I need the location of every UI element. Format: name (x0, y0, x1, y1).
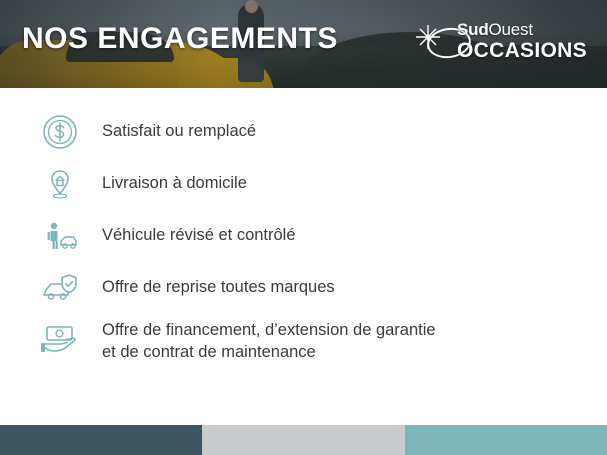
page-title: NOS ENGAGEMENTS (22, 22, 338, 56)
logo-ouest: Ouest (489, 20, 533, 39)
hand-money-financing-icon (38, 317, 82, 361)
list-item: Offre de reprise toutes marques (38, 266, 335, 310)
list-item-label: Satisfait ou remplacé (102, 110, 256, 142)
list-item-label: Offre de reprise toutes marques (102, 266, 335, 298)
list-item: Livraison à domicile (38, 162, 247, 206)
engagements-list: Satisfait ou remplacé Livraison à domici… (0, 88, 607, 425)
logo-occasions: OCCASIONS (457, 40, 587, 61)
home-delivery-pin-icon (38, 162, 82, 206)
logo-wordmark: SudOuest OCCASIONS (457, 21, 587, 61)
list-item-label: Offre de financement, d’extension de gar… (102, 317, 436, 363)
footer-bar-dark (0, 425, 202, 455)
footer-bar-teal (405, 425, 607, 455)
logo-sud: Sud (457, 20, 489, 39)
brand-logo: SudOuest OCCASIONS (413, 16, 573, 70)
car-shield-trade-in-icon (38, 266, 82, 310)
list-item-label: Livraison à domicile (102, 162, 247, 194)
footer-color-bars (0, 425, 607, 455)
list-item: Offre de financement, d’extension de gar… (38, 317, 436, 363)
satisfaction-guarantee-icon (38, 110, 82, 154)
logo-line-top: SudOuest (457, 21, 587, 38)
list-item: Satisfait ou remplacé (38, 110, 256, 154)
footer-bar-grey (202, 425, 405, 455)
technician-inspection-icon (38, 214, 82, 258)
header-banner: NOS ENGAGEMENTS SudOuest OCCASIONS (0, 0, 607, 88)
list-item-label: Véhicule révisé et contrôlé (102, 214, 296, 246)
list-item: Véhicule révisé et contrôlé (38, 214, 296, 258)
